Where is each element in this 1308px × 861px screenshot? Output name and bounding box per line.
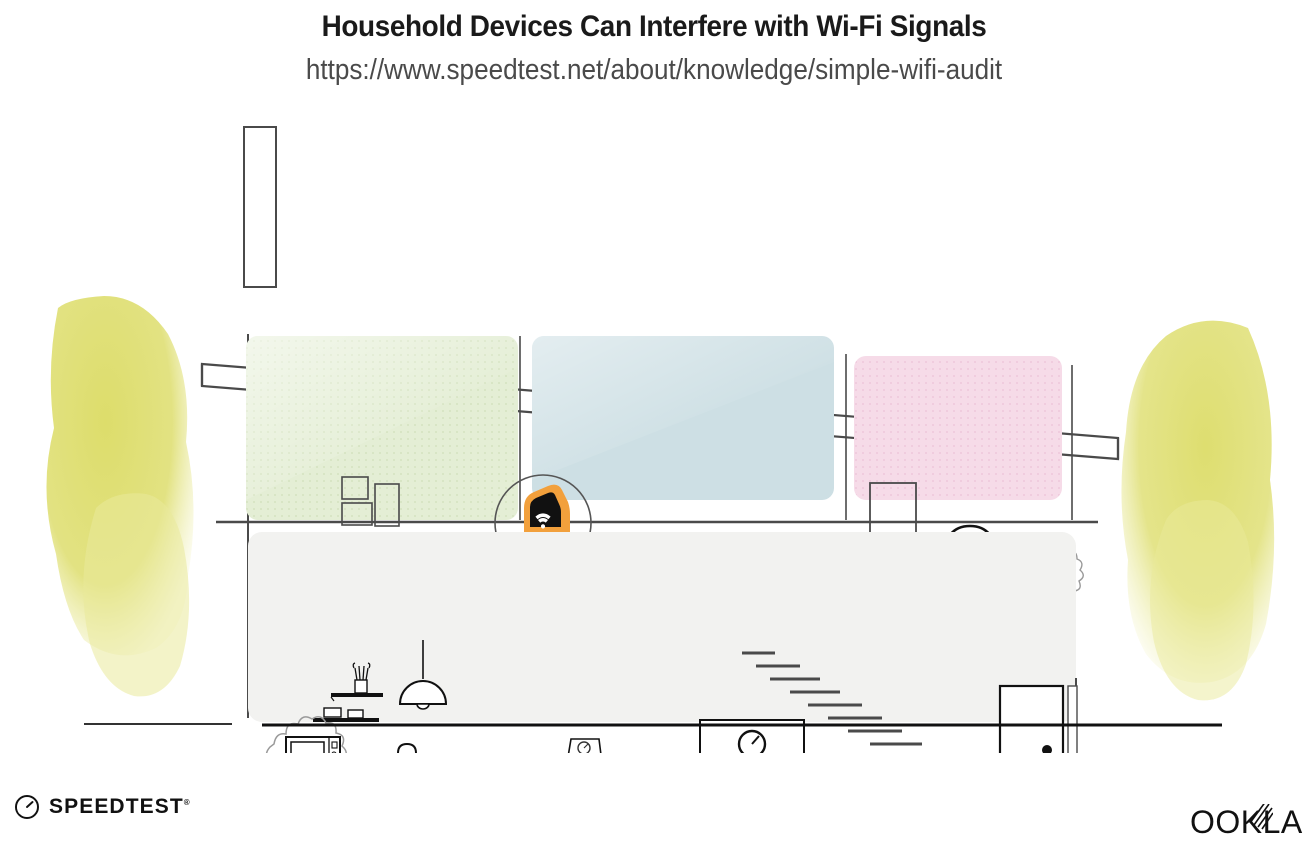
microwave[interactable] (286, 737, 340, 753)
ground-line (84, 724, 1222, 725)
room-living-kitchen: SPEEDTEST (248, 532, 1076, 753)
tree-right (1121, 321, 1274, 701)
sink-faucet (398, 744, 416, 753)
ookla-wordmark: OOKLA (1190, 804, 1303, 841)
registered-mark: ® (184, 798, 190, 807)
tree-left (46, 296, 193, 696)
ookla-slash-icon (1247, 804, 1273, 831)
house-structure-right (1068, 678, 1077, 753)
speedtest-wordmark: SPEEDTEST® (49, 795, 190, 819)
speedtest-logo: SPEEDTEST® (14, 794, 190, 820)
front-door[interactable] (1000, 686, 1063, 753)
infographic-page: Household Devices Can Interfere with Wi-… (0, 0, 1308, 861)
chimney (244, 127, 276, 287)
source-url: https://www.speedtest.net/about/knowledg… (65, 52, 1242, 88)
laptop[interactable]: SPEEDTEST (560, 739, 610, 753)
header: Household Devices Can Interfere with Wi-… (0, 0, 1308, 88)
footer: SPEEDTEST® OOKLA (0, 780, 1308, 861)
ookla-logo: OOKLA (1190, 804, 1308, 848)
house-illustration: SPEEDTEST (0, 108, 1308, 753)
page-title: Household Devices Can Interfere with Wi-… (46, 8, 1262, 46)
speedtest-text: SPEEDTEST (49, 795, 184, 818)
speedometer-icon (14, 794, 40, 820)
